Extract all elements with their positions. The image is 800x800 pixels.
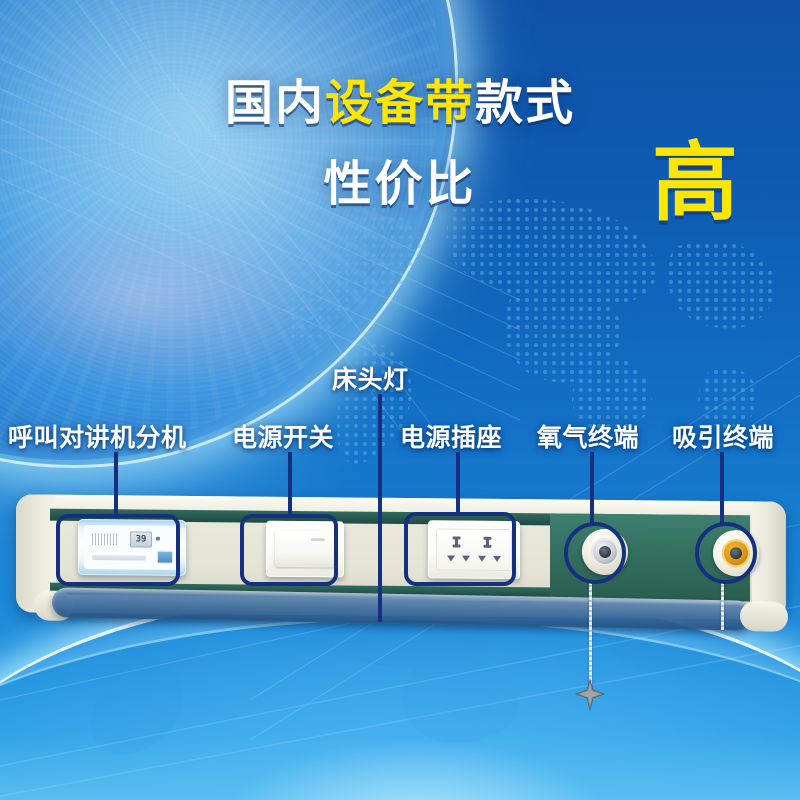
highlight-intercom	[56, 514, 180, 586]
callout-label-oxygen: 氧气终端	[537, 418, 639, 454]
headline-part-1: 国内	[225, 77, 325, 130]
headline-emphasis-word: 高	[652, 140, 738, 226]
callout-label-suction: 吸引终端	[672, 418, 774, 454]
callout-label-power-switch: 电源开关	[232, 418, 334, 454]
callout-label-power-socket: 电源插座	[400, 418, 502, 454]
leader-line-power-socket	[456, 452, 460, 514]
highlight-oxygen	[564, 522, 626, 584]
leader-line-oxygen	[590, 452, 594, 524]
pull-cord-weight-icon[interactable]	[574, 678, 606, 712]
promo-banner: 国内设备带款式 性价比 高 呼叫对讲机分机 电源开关 床头灯 电源插座 氧气终端…	[0, 0, 800, 800]
callout-label-intercom: 呼叫对讲机分机	[8, 418, 187, 454]
highlight-power-switch	[240, 514, 338, 586]
pull-cord-secondary[interactable]	[721, 582, 724, 630]
highlight-power-socket	[404, 512, 516, 586]
headline-line-1: 国内设备带款式	[0, 78, 800, 130]
pull-cord[interactable]	[589, 582, 592, 692]
headline-part-3: 款式	[475, 77, 575, 130]
leader-line-power-switch	[288, 452, 292, 514]
highlight-suction	[695, 522, 757, 584]
callout-label-bed-lamp: 床头灯	[332, 360, 409, 396]
leader-line-bed-lamp	[378, 394, 382, 622]
headline-part-2: 设备带	[325, 77, 475, 130]
leader-line-intercom	[114, 452, 118, 514]
rail-cap-right	[740, 601, 788, 632]
leader-line-suction	[720, 452, 724, 524]
